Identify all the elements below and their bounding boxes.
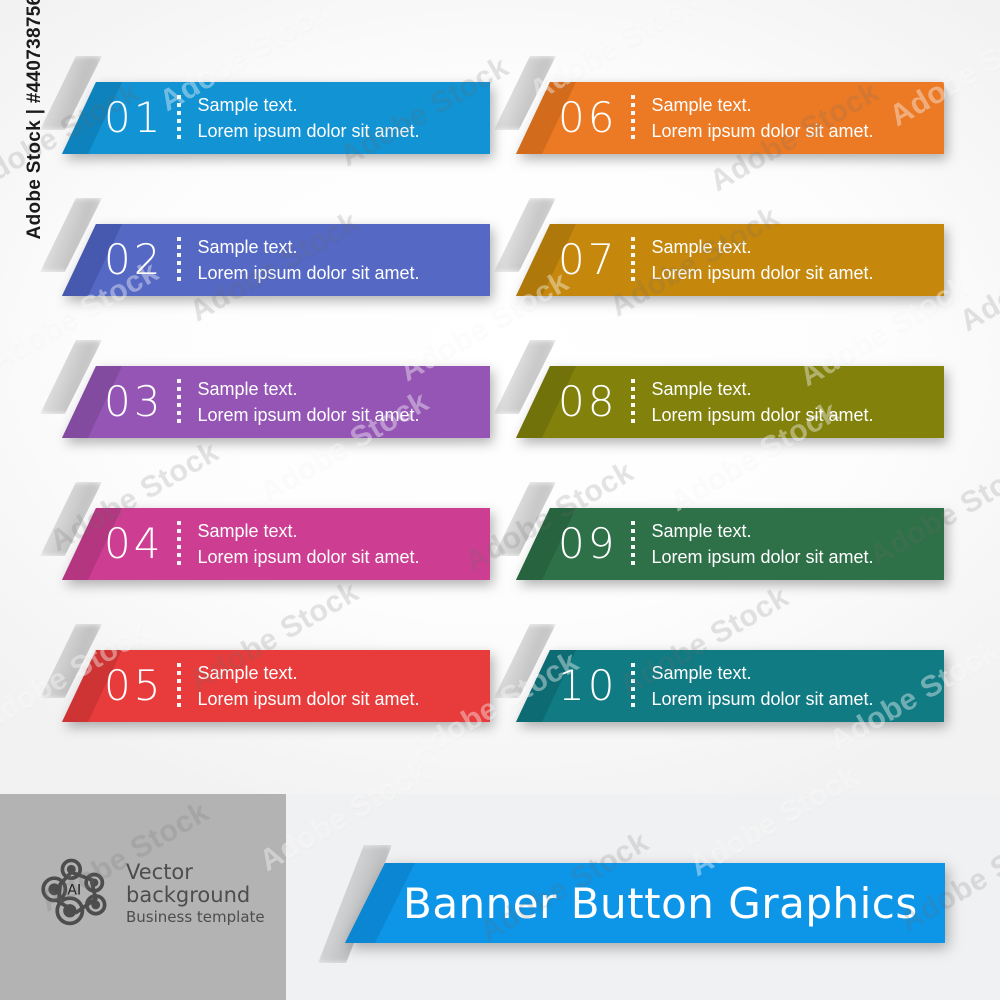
banner-dotted-divider-icon xyxy=(177,663,181,709)
branding-line-1: Vector xyxy=(126,861,265,884)
banner-line-1: Sample text. xyxy=(197,518,419,544)
banner-line-2: Lorem ipsum dolor sit amet. xyxy=(651,402,873,428)
banner-dotted-divider-icon xyxy=(177,95,181,141)
banner-number: 04 xyxy=(104,523,163,565)
banner-text-block: Sample text.Lorem ipsum dolor sit amet. xyxy=(197,518,419,570)
banner-line-2: Lorem ipsum dolor sit amet. xyxy=(651,544,873,570)
banner-line-1: Sample text. xyxy=(651,92,873,118)
banner-line-1: Sample text. xyxy=(651,376,873,402)
banner-content: 01Sample text.Lorem ipsum dolor sit amet… xyxy=(62,82,490,154)
banner-line-2: Lorem ipsum dolor sit amet. xyxy=(197,402,419,428)
banner-text-block: Sample text.Lorem ipsum dolor sit amet. xyxy=(197,660,419,712)
banner-line-2: Lorem ipsum dolor sit amet. xyxy=(651,686,873,712)
banner-text-block: Sample text.Lorem ipsum dolor sit amet. xyxy=(651,518,873,570)
banner-dotted-divider-icon xyxy=(631,379,635,425)
banner-line-1: Sample text. xyxy=(651,518,873,544)
banner-content: 08Sample text.Lorem ipsum dolor sit amet… xyxy=(516,366,944,438)
banner-line-2: Lorem ipsum dolor sit amet. xyxy=(197,260,419,286)
banner-line-2: Lorem ipsum dolor sit amet. xyxy=(197,686,419,712)
ai-logo-icon: AI xyxy=(38,856,112,930)
artwork-canvas: 01Sample text.Lorem ipsum dolor sit amet… xyxy=(0,0,1000,1000)
title-banner[interactable]: Banner Button Graphics xyxy=(345,863,945,943)
banner-item[interactable]: 05Sample text.Lorem ipsum dolor sit amet… xyxy=(62,650,490,722)
banner-number: 05 xyxy=(104,665,163,707)
banner-text-block: Sample text.Lorem ipsum dolor sit amet. xyxy=(651,660,873,712)
banner-item[interactable]: 07Sample text.Lorem ipsum dolor sit amet… xyxy=(516,224,944,296)
banner-line-1: Sample text. xyxy=(197,234,419,260)
banner-line-1: Sample text. xyxy=(651,660,873,686)
banner-content: 03Sample text.Lorem ipsum dolor sit amet… xyxy=(62,366,490,438)
banner-item[interactable]: 02Sample text.Lorem ipsum dolor sit amet… xyxy=(62,224,490,296)
banner-dotted-divider-icon xyxy=(631,521,635,567)
branding-line-3: Business template xyxy=(126,909,265,925)
banner-number: 10 xyxy=(558,665,617,707)
banner-line-1: Sample text. xyxy=(651,234,873,260)
banner-item[interactable]: 09Sample text.Lorem ipsum dolor sit amet… xyxy=(516,508,944,580)
banner-number: 06 xyxy=(558,97,617,139)
banner-content: 04Sample text.Lorem ipsum dolor sit amet… xyxy=(62,508,490,580)
banner-item[interactable]: 10Sample text.Lorem ipsum dolor sit amet… xyxy=(516,650,944,722)
banner-content: 05Sample text.Lorem ipsum dolor sit amet… xyxy=(62,650,490,722)
banner-number: 08 xyxy=(558,381,617,423)
banner-line-1: Sample text. xyxy=(197,92,419,118)
branding-content: AI Vector background Business template xyxy=(38,856,265,930)
banner-text-block: Sample text.Lorem ipsum dolor sit amet. xyxy=(651,92,873,144)
banner-item[interactable]: 03Sample text.Lorem ipsum dolor sit amet… xyxy=(62,366,490,438)
branding-line-2: background xyxy=(126,884,265,907)
banner-content: 09Sample text.Lorem ipsum dolor sit amet… xyxy=(516,508,944,580)
banner-content: 02Sample text.Lorem ipsum dolor sit amet… xyxy=(62,224,490,296)
banner-number: 01 xyxy=(104,97,163,139)
banner-line-1: Sample text. xyxy=(197,660,419,686)
banner-dotted-divider-icon xyxy=(177,521,181,567)
banner-item[interactable]: 01Sample text.Lorem ipsum dolor sit amet… xyxy=(62,82,490,154)
branding-panel: AI Vector background Business template xyxy=(0,794,286,1000)
banner-text-block: Sample text.Lorem ipsum dolor sit amet. xyxy=(651,376,873,428)
banner-number: 03 xyxy=(104,381,163,423)
banner-dotted-divider-icon xyxy=(177,237,181,283)
banner-number: 02 xyxy=(104,239,163,281)
banner-content: 07Sample text.Lorem ipsum dolor sit amet… xyxy=(516,224,944,296)
title-banner-label: Banner Button Graphics xyxy=(345,863,945,943)
branding-text: Vector background Business template xyxy=(126,861,265,925)
ai-logo-label: AI xyxy=(67,882,81,898)
banner-number: 09 xyxy=(558,523,617,565)
banner-text-block: Sample text.Lorem ipsum dolor sit amet. xyxy=(197,376,419,428)
banner-number: 07 xyxy=(558,239,617,281)
banner-item[interactable]: 08Sample text.Lorem ipsum dolor sit amet… xyxy=(516,366,944,438)
banner-text-block: Sample text.Lorem ipsum dolor sit amet. xyxy=(197,234,419,286)
banner-line-2: Lorem ipsum dolor sit amet. xyxy=(651,260,873,286)
banner-content: 10Sample text.Lorem ipsum dolor sit amet… xyxy=(516,650,944,722)
banner-line-2: Lorem ipsum dolor sit amet. xyxy=(197,118,419,144)
banner-dotted-divider-icon xyxy=(177,379,181,425)
banner-content: 06Sample text.Lorem ipsum dolor sit amet… xyxy=(516,82,944,154)
banner-text-block: Sample text.Lorem ipsum dolor sit amet. xyxy=(197,92,419,144)
banner-dotted-divider-icon xyxy=(631,95,635,141)
stock-credit: Adobe Stock | #440738756 xyxy=(24,0,46,242)
banner-line-2: Lorem ipsum dolor sit amet. xyxy=(651,118,873,144)
banner-line-2: Lorem ipsum dolor sit amet. xyxy=(197,544,419,570)
banner-text-block: Sample text.Lorem ipsum dolor sit amet. xyxy=(651,234,873,286)
banner-line-1: Sample text. xyxy=(197,376,419,402)
banner-dotted-divider-icon xyxy=(631,237,635,283)
banner-dotted-divider-icon xyxy=(631,663,635,709)
banner-item[interactable]: 04Sample text.Lorem ipsum dolor sit amet… xyxy=(62,508,490,580)
banner-item[interactable]: 06Sample text.Lorem ipsum dolor sit amet… xyxy=(516,82,944,154)
